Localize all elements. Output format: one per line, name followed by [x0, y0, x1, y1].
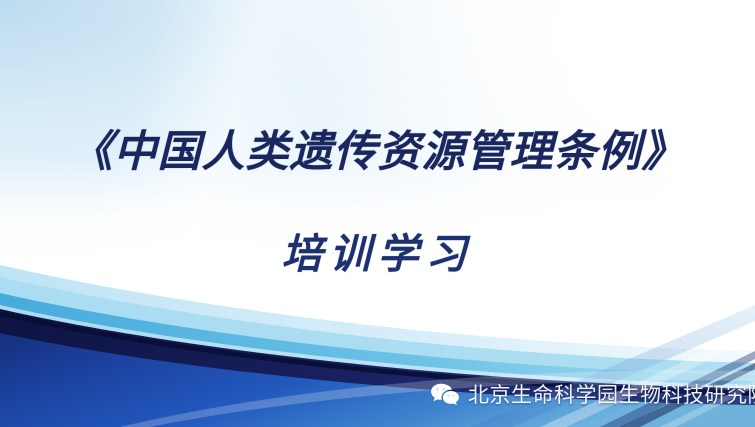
wechat-icon — [430, 382, 460, 408]
watermark: 北京生命科学园生物科技研究院 — [430, 381, 755, 409]
watermark-text: 北京生命科学园生物科技研究院 — [468, 382, 755, 408]
sub-title: 培训学习 — [0, 220, 755, 280]
main-title: 《中国人类遗传资源管理条例》 — [0, 128, 755, 176]
title-block: 《中国人类遗传资源管理条例》 培训学习 — [0, 128, 755, 280]
presentation-title-slide: 《中国人类遗传资源管理条例》 培训学习 北京生命科学园生物科技研究院 — [0, 0, 755, 427]
